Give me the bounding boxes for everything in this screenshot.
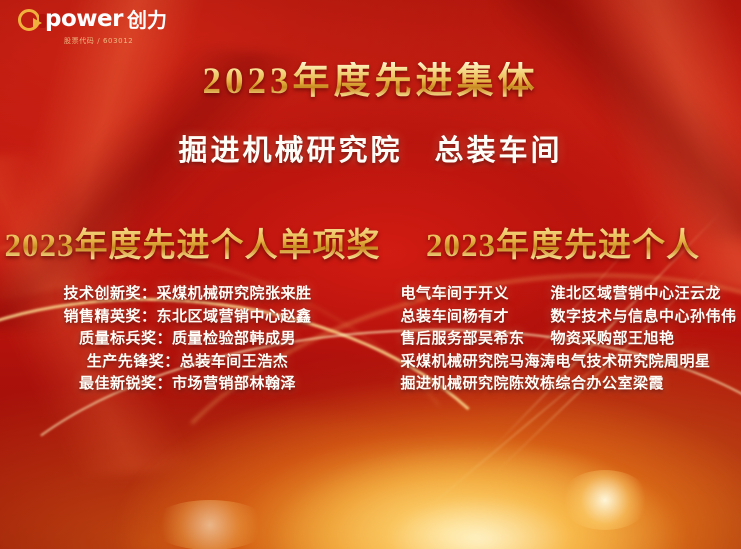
list-item: 掘进机械研究院陈效栋 综合办公室梁霞 xyxy=(401,373,716,396)
golden-glow-core xyxy=(200,409,741,549)
single-award-list: 技术创新奖：采煤机械研究院张来胜 销售精英奖：东北区域营销中心赵鑫 质量标兵奖：… xyxy=(0,283,375,396)
person-name: 采煤机械研究院马海涛 xyxy=(401,351,556,374)
person-name: 淮北区域营销中心汪云龙 xyxy=(551,283,722,306)
c-power-icon xyxy=(18,9,40,31)
award-poster: power 创力 股票代码 / 603012 2023年度先进集体 掘进机械研究… xyxy=(0,0,741,549)
person-name: 电气技术研究院周明星 xyxy=(556,351,716,374)
logo-chinese: 创力 xyxy=(127,10,167,30)
person-name: 总装车间杨有才 xyxy=(401,306,551,329)
stock-code: 股票代码 / 603012 xyxy=(64,36,133,46)
winner-lists: 技术创新奖：采煤机械研究院张来胜 销售精英奖：东北区域营销中心赵鑫 质量标兵奖：… xyxy=(0,283,741,396)
logo-word: power xyxy=(45,8,123,31)
person-name: 综合办公室梁霞 xyxy=(556,373,716,396)
heading-advanced-person: 2023年度先进个人 xyxy=(385,218,741,266)
sparkle-2 xyxy=(150,500,270,549)
person-name: 电气车间于开义 xyxy=(401,283,551,306)
list-item: 售后服务部吴希东 物资采购部王旭艳 xyxy=(401,328,716,351)
section-headings: 2023年度先进个人单项奖 2023年度先进个人 xyxy=(0,218,741,266)
company-logo: power 创力 股票代码 / 603012 xyxy=(18,8,167,46)
heading-single-awards: 2023年度先进个人单项奖 xyxy=(0,218,385,266)
list-item: 质量标兵奖：质量检验部韩成男 xyxy=(79,328,296,351)
person-name: 数字技术与信息中心孙伟伟 xyxy=(551,306,737,329)
list-item: 采煤机械研究院马海涛 电气技术研究院周明星 xyxy=(401,351,716,374)
list-item: 销售精英奖：东北区域营销中心赵鑫 xyxy=(63,306,311,329)
list-item: 技术创新奖：采煤机械研究院张来胜 xyxy=(63,283,311,306)
person-name: 物资采购部王旭艳 xyxy=(551,328,716,351)
collective-winners: 掘进机械研究院 总装车间 xyxy=(0,136,741,168)
list-item: 生产先锋奖：总装车间王浩杰 xyxy=(87,351,289,374)
sparkle-1 xyxy=(560,470,650,530)
silk-shadow-top-right xyxy=(501,0,741,240)
logo-wordmark-row: power 创力 xyxy=(18,8,167,31)
person-name: 掘进机械研究院陈效栋 xyxy=(401,373,556,396)
list-item: 最佳新锐奖：市场营销部林翰泽 xyxy=(79,373,296,396)
page-title: 2023年度先进集体 xyxy=(0,62,741,103)
list-item: 总装车间杨有才 数字技术与信息中心孙伟伟 xyxy=(401,306,716,329)
person-name: 售后服务部吴希东 xyxy=(401,328,551,351)
list-item: 电气车间于开义 淮北区域营销中心汪云龙 xyxy=(401,283,716,306)
advanced-individual-list: 电气车间于开义 淮北区域营销中心汪云龙 总装车间杨有才 数字技术与信息中心孙伟伟… xyxy=(375,283,741,396)
